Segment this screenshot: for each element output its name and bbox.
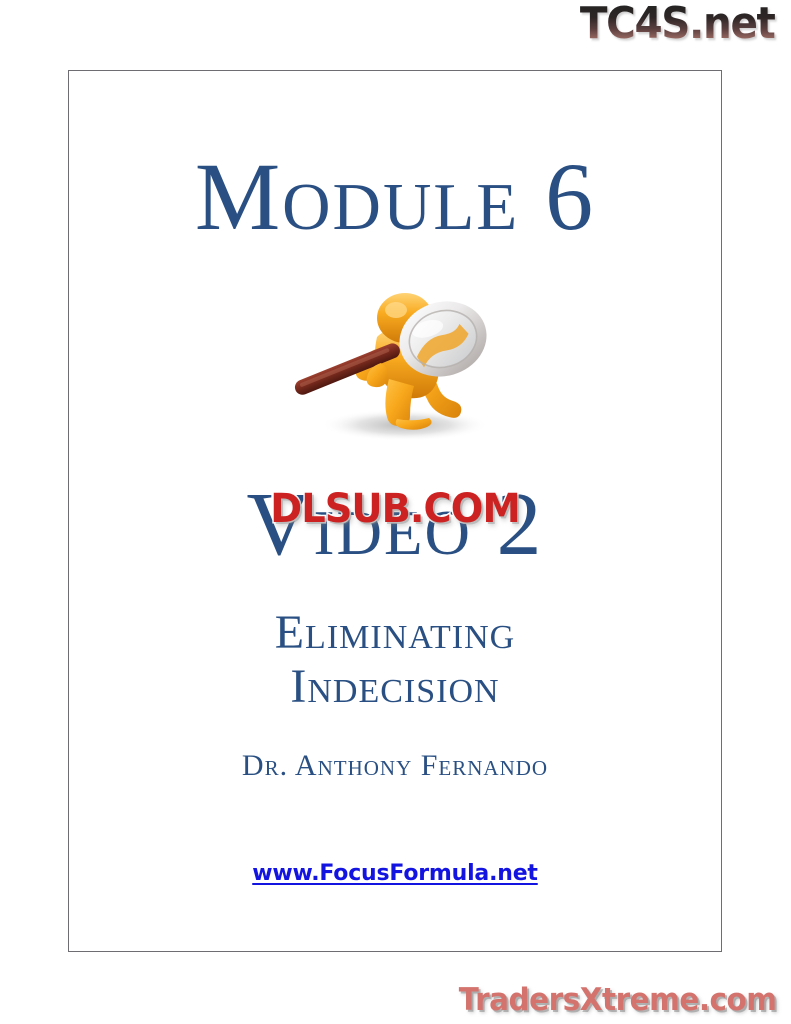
subtitle: Eliminating Indecision [69, 606, 721, 714]
person-with-magnifying-glass-icon [285, 271, 515, 451]
subtitle-line-2: Indecision [69, 660, 721, 714]
page-content: Module 6 [69, 71, 721, 951]
module-title: Module 6 [69, 149, 721, 245]
document-page: Module 6 [68, 70, 722, 952]
subtitle-line-1: Eliminating [69, 606, 721, 660]
watermark-bottom-right: TradersXtreme.com [459, 985, 777, 1016]
video-title-row: Video 2 DLSUB.COM [69, 471, 721, 581]
watermark-overlay-center: DLSUB.COM [270, 489, 519, 529]
watermark-top-right: TC4S.net [580, 2, 775, 46]
website-link-row: www.FocusFormula.net [69, 861, 721, 886]
website-link[interactable]: www.FocusFormula.net [252, 861, 538, 886]
author-name: Dr. Anthony Fernando [69, 751, 721, 781]
